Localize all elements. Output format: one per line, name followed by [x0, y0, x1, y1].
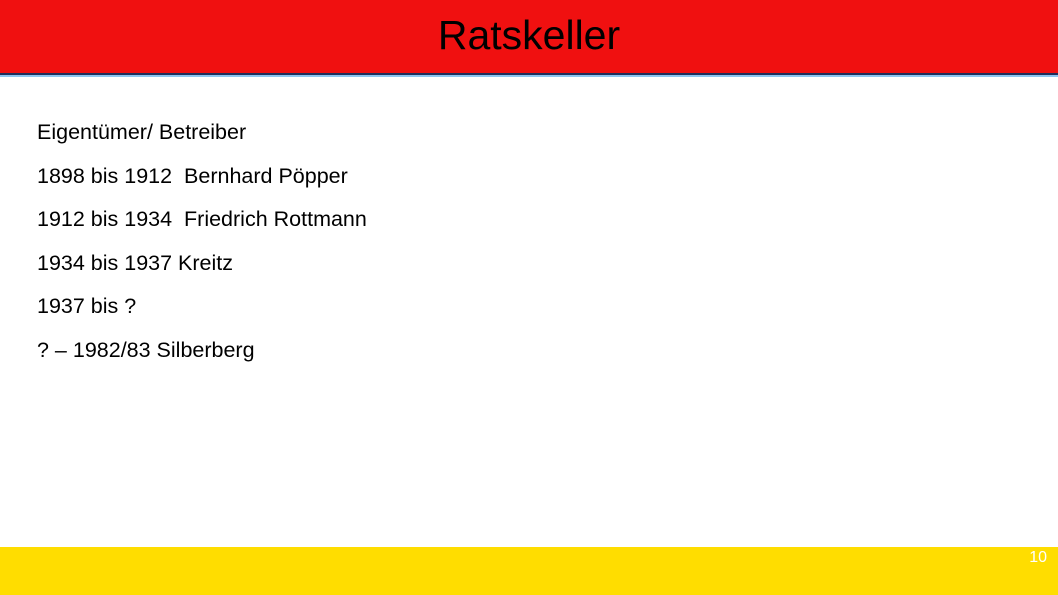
- slide: Ratskeller Eigentümer/ Betreiber 1898 bi…: [0, 0, 1058, 595]
- header-divider-light: [0, 75, 1058, 77]
- body-line: 1934 bis 1937 Kreitz: [37, 242, 997, 286]
- body-line: 1912 bis 1934 Friedrich Rottmann: [37, 198, 997, 242]
- slide-header-band: Ratskeller: [0, 0, 1058, 73]
- body-line: Eigentümer/ Betreiber: [37, 111, 997, 155]
- body-line: 1937 bis ?: [37, 285, 997, 329]
- slide-title: Ratskeller: [438, 15, 620, 58]
- body-line: ? – 1982/83 Silberberg: [37, 329, 997, 373]
- body-line: 1898 bis 1912 Bernhard Pöpper: [37, 155, 997, 199]
- page-number: 10: [0, 548, 1047, 568]
- slide-body: Eigentümer/ Betreiber 1898 bis 1912 Bern…: [37, 111, 997, 372]
